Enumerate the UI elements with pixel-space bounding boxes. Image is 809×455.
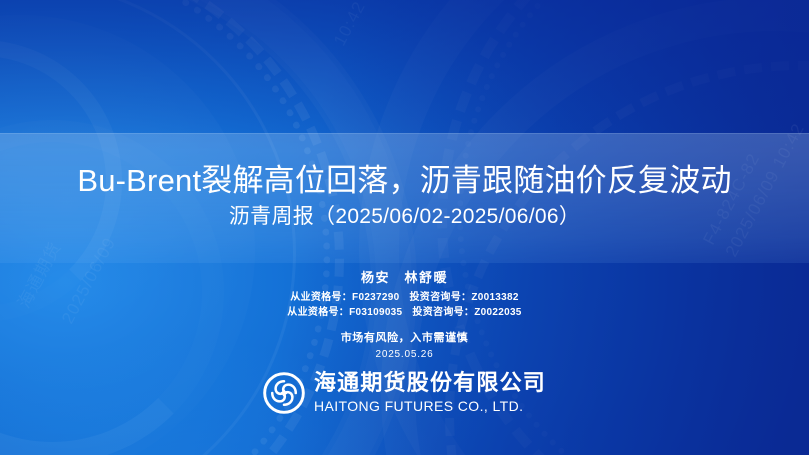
credential-1-consulting-number: Z0013382 (471, 292, 518, 303)
credential-1-qualification-number: F0237290 (352, 292, 399, 303)
slide-content: Bu-Brent裂解高位回落，沥青跟随油价反复波动 沥青周报（2025/06/0… (0, 0, 809, 455)
risk-warning-text: 市场有风险，入市需谨慎 (0, 331, 809, 346)
credential-1-qualification-label: 从业资格号： (290, 292, 352, 303)
credential-line-2: 从业资格号：F03109035投资咨询号：Z0022035 (0, 306, 809, 320)
credential-2-consulting-number: Z0022035 (474, 307, 521, 318)
credential-2-consulting-label: 投资咨询号： (412, 307, 474, 318)
haitong-circular-emblem-icon (263, 372, 305, 414)
credential-2-qualification-label: 从业资格号： (287, 307, 349, 318)
presentation-cover-slide: 10:42 F4-824C 海通期货 2025/06/09 2025/06/09… (0, 0, 809, 455)
company-logo-lockup: 海通期货股份有限公司 HAITONG FUTURES CO., LTD. (0, 372, 809, 414)
slide-subtitle: 沥青周报（2025/06/02-2025/06/06） (0, 203, 809, 230)
slide-title: Bu-Brent裂解高位回落，沥青跟随油价反复波动 (0, 161, 809, 201)
credential-line-1: 从业资格号：F0237290投资咨询号：Z0013382 (0, 291, 809, 305)
company-name-chinese: 海通期货股份有限公司 (314, 372, 546, 396)
company-name-english: HAITONG FUTURES CO., LTD. (314, 398, 523, 414)
credential-1-consulting-label: 投资咨询号： (410, 292, 472, 303)
company-name-block: 海通期货股份有限公司 HAITONG FUTURES CO., LTD. (314, 372, 546, 414)
author-names: 杨安 林舒暖 (0, 269, 809, 287)
publication-date: 2025.05.26 (0, 348, 809, 362)
credential-2-qualification-number: F03109035 (349, 307, 402, 318)
